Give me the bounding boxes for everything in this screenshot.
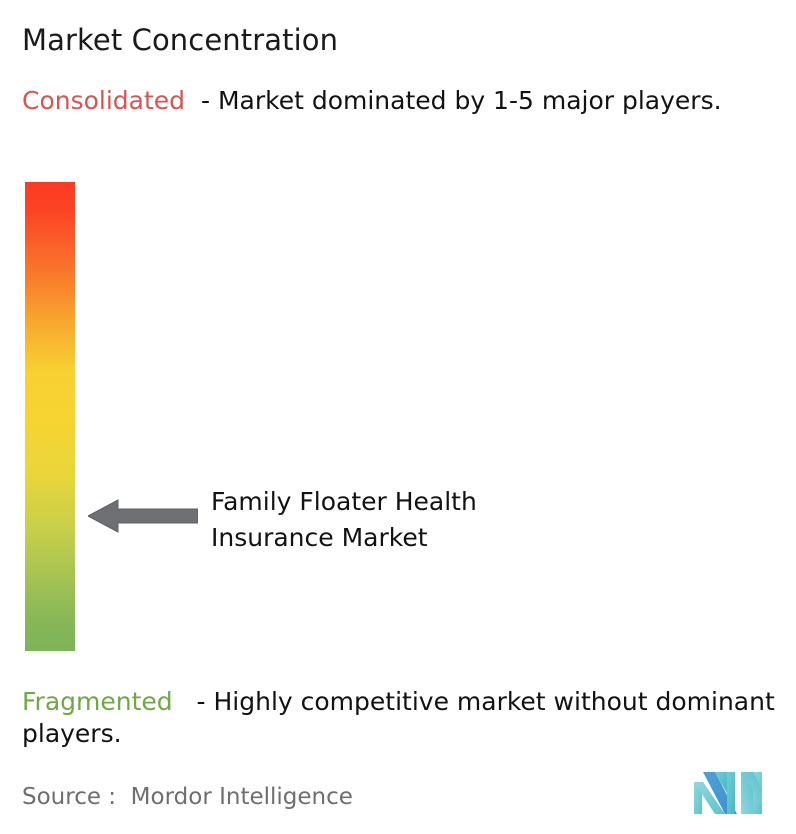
consolidated-separator: - <box>185 86 218 115</box>
fragmented-separator: - <box>173 687 214 716</box>
consolidated-keyword: Consolidated <box>22 86 185 115</box>
fragmented-legend-caption: Fragmented - Highly competitive market w… <box>22 686 787 750</box>
market-pointer-label-line2: Insurance Market <box>211 520 611 556</box>
market-pointer-label: Family Floater Health Insurance Market <box>211 484 611 556</box>
left-arrow-svg <box>88 498 198 534</box>
mordor-intelligence-logo-icon <box>694 771 762 814</box>
market-concentration-gradient-bar <box>25 182 75 651</box>
left-arrow-shape <box>88 500 198 532</box>
fragmented-keyword: Fragmented <box>22 687 173 716</box>
consolidated-description: Market dominated by 1-5 major players. <box>218 86 722 115</box>
consolidated-legend-caption: Consolidated - Market dominated by 1-5 m… <box>22 85 774 117</box>
source-attribution: Source : Mordor Intelligence <box>22 782 353 812</box>
page-title: Market Concentration <box>22 21 338 59</box>
left-arrow-icon <box>88 498 198 534</box>
logo-shape-center-bar <box>727 772 735 814</box>
market-pointer-label-line1: Family Floater Health <box>211 484 611 520</box>
logo-svg <box>694 771 762 814</box>
